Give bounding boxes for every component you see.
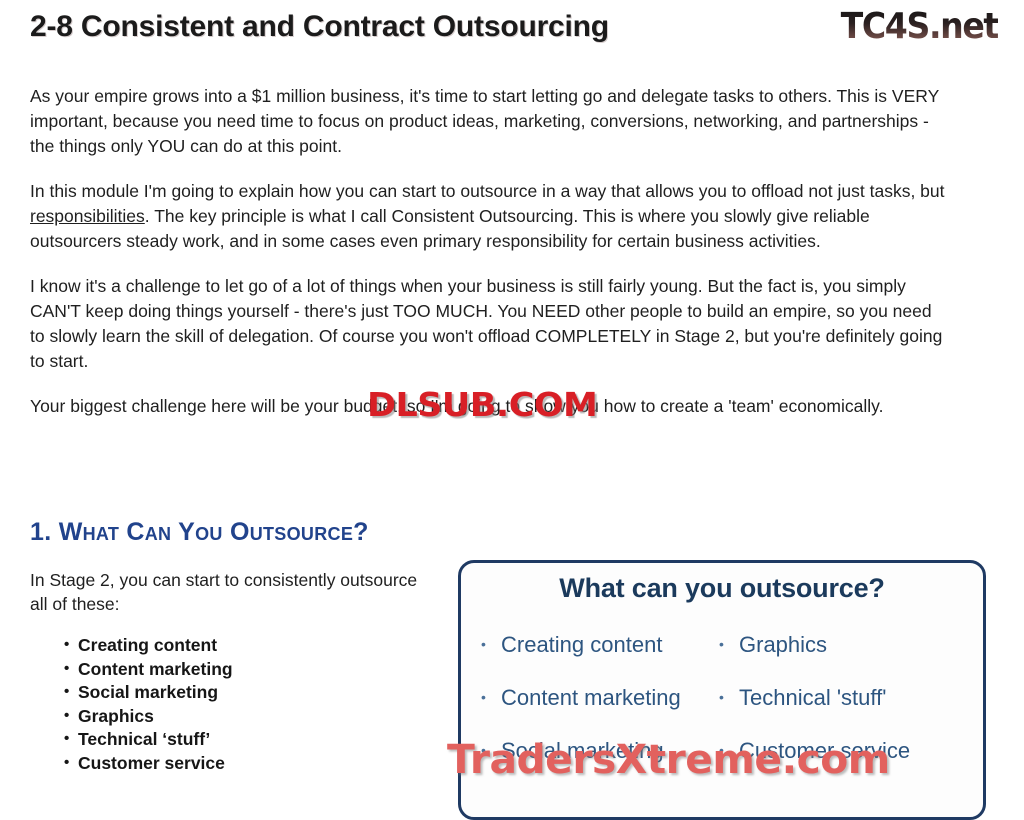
section-heading-text: What Can You Outsource? (59, 518, 369, 546)
page-title: 2-8 Consistent and Contract Outsourcing (30, 10, 609, 44)
paragraph-1: As your empire grows into a $1 million b… (30, 84, 948, 159)
list-item: Content marketing (64, 658, 430, 682)
section-intro: In Stage 2, you can start to consistentl… (30, 568, 430, 616)
callout-item: Content marketing (479, 671, 699, 724)
outsource-list: Creating content Content marketing Socia… (30, 634, 430, 775)
site-logo: TC4S.net (841, 6, 998, 47)
paragraph-2: In this module I'm going to explain how … (30, 179, 948, 254)
list-item: Customer service (64, 752, 430, 776)
callout-right-column: Graphics Technical 'stuff' Customer serv… (699, 618, 965, 777)
callout-title: What can you outsource? (461, 573, 983, 604)
outsource-callout-box: What can you outsource? Creating content… (458, 560, 986, 820)
paragraph-2-lead: In this module I'm going to explain how … (30, 181, 945, 201)
section-number: 1. (30, 518, 51, 546)
body-copy: As your empire grows into a $1 million b… (30, 84, 948, 439)
document-header: 2-8 Consistent and Contract Outsourcing … (30, 10, 998, 56)
paragraph-2-emphasis: responsibilities (30, 206, 145, 226)
list-item: Technical ‘stuff’ (64, 728, 430, 752)
callout-item: Customer service (717, 724, 965, 777)
section-heading: 1. What Can You Outsource? (30, 518, 369, 547)
paragraph-3: I know it's a challenge to let go of a l… (30, 274, 948, 374)
callout-left-column: Creating content Content marketing Socia… (479, 618, 699, 777)
list-item: Social marketing (64, 681, 430, 705)
paragraph-2-tail: . The key principle is what I call Consi… (30, 206, 870, 251)
callout-item: Creating content (479, 618, 699, 671)
document-page: 2-8 Consistent and Contract Outsourcing … (0, 0, 1024, 809)
callout-item: Social marketing (479, 724, 699, 777)
callout-grid: Creating content Content marketing Socia… (461, 618, 983, 777)
paragraph-4: Your biggest challenge here will be your… (30, 394, 948, 419)
list-item: Graphics (64, 705, 430, 729)
list-item: Creating content (64, 634, 430, 658)
callout-item: Technical 'stuff' (717, 671, 965, 724)
left-column: In Stage 2, you can start to consistentl… (30, 568, 430, 775)
callout-item: Graphics (717, 618, 965, 671)
